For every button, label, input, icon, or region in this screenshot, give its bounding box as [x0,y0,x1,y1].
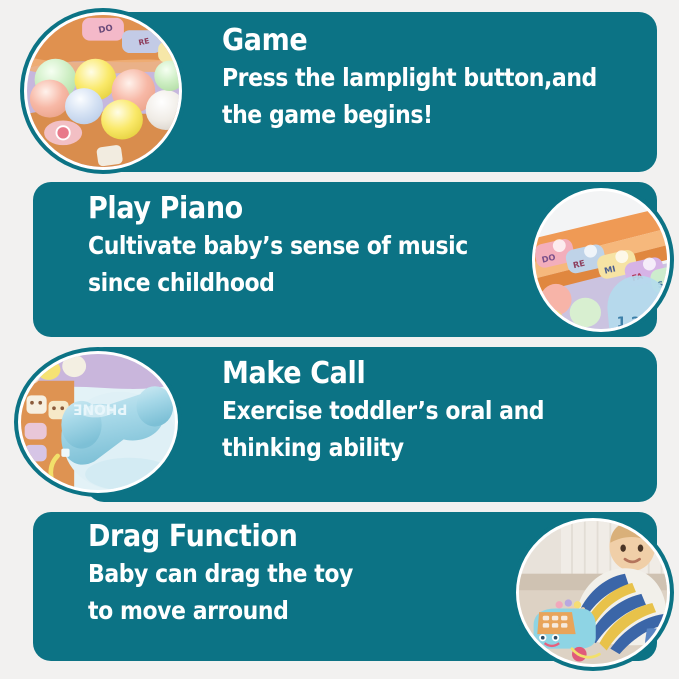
feature-description-game-line-2: the game begins! [222,97,589,134]
game-photo-frame: DO RE [27,15,179,167]
piano-photo-illustration: DO RE MI FA [535,191,667,329]
phone-photo-illustration: PHONE [21,354,175,490]
feature-description-drag-function-line-1: Baby can drag the toy [88,556,475,593]
feature-title-play-piano: Play Piano [88,192,502,226]
feature-description-make-call-line-2: thinking ability [222,430,589,467]
feature-description-make-call-line-1: Exercise toddler’s oral and [222,393,589,430]
feature-card-drag-function-text: Drag Function Baby can drag the toy to m… [88,520,528,629]
svg-text:PHONE: PHONE [73,401,127,417]
feature-card-game-text: Game Press the lamplight button,and the … [222,24,639,133]
feature-description-game-line-1: Press the lamplight button,and [222,60,589,97]
piano-photo-frame: DO RE MI FA [535,191,667,329]
feature-description-play-piano-line-1: Cultivate baby’s sense of music [88,228,493,265]
feature-description-make-call: Exercise toddler’s oral and thinking abi… [222,393,589,466]
feature-description-play-piano: Cultivate baby’s sense of music since ch… [88,228,493,301]
feature-card-make-call-text: Make Call Exercise toddler’s oral and th… [222,357,639,466]
product-feature-infographic: Game Press the lamplight button,and the … [0,0,679,679]
toddler-dragging-toy-photo [512,514,674,671]
drag-photo-frame [519,521,667,664]
drag-photo-illustration [519,521,667,664]
feature-description-drag-function: Baby can drag the toy to move arround [88,556,475,629]
phone-photo-frame: PHONE [21,354,175,490]
game-photo-illustration: DO RE [27,15,179,167]
feature-card-play-piano-text: Play Piano Cultivate baby’s sense of mus… [88,192,548,301]
feature-title-make-call: Make Call [222,357,597,391]
game-lamplight-buttons-photo: DO RE [20,8,186,174]
piano-keys-photo: DO RE MI FA [528,184,674,336]
feature-description-drag-function-line-2: to move arround [88,593,475,630]
feature-description-play-piano-line-2: since childhood [88,265,493,302]
feature-description-game: Press the lamplight button,and the game … [222,60,589,133]
feature-title-drag-function: Drag Function [88,520,484,554]
toy-telephone-handset-photo: PHONE [14,347,182,497]
feature-title-game: Game [222,24,597,58]
